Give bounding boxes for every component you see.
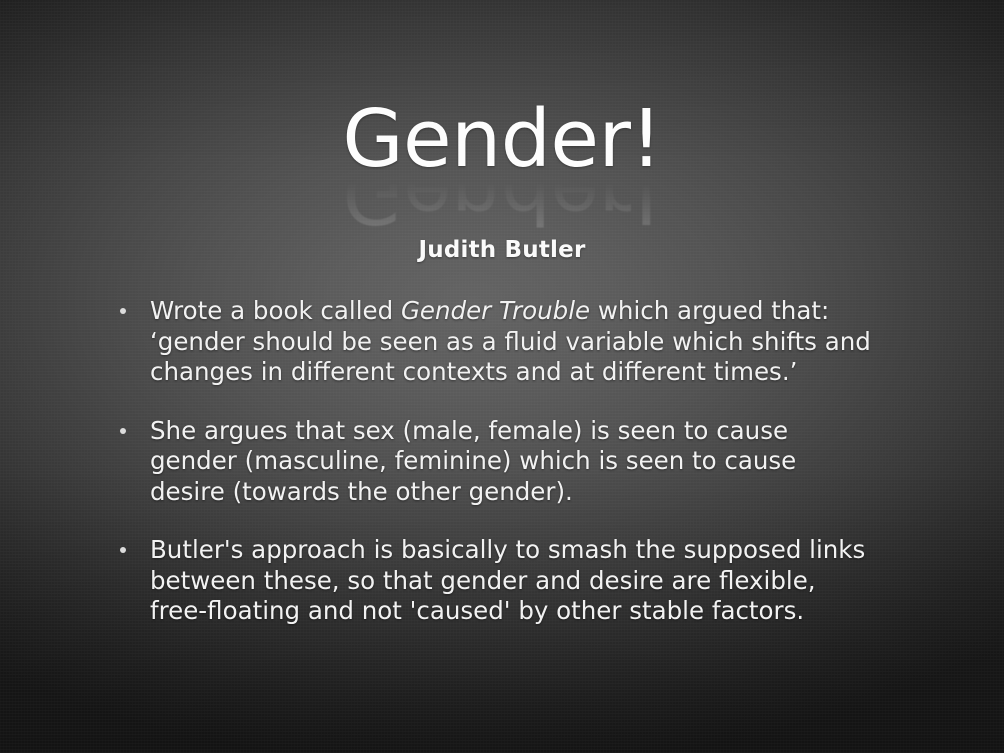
list-item: She argues that sex (male, female) is se… [112, 416, 922, 508]
slide-content: Gender! Gender! Judith Butler Wrote a bo… [0, 0, 1004, 753]
list-item: Wrote a book called Gender Trouble which… [112, 296, 922, 388]
round-dot-icon [120, 428, 126, 434]
page-title: Gender! [0, 100, 1004, 179]
page-title-reflection: Gender! [0, 181, 1004, 233]
presentation-slide: Gender! Gender! Judith Butler Wrote a bo… [0, 0, 1004, 753]
slide-subtitle: Judith Butler [0, 237, 1004, 263]
slide-title-block: Gender! Gender! [0, 100, 1004, 233]
list-item-text: Wrote a book called Gender Trouble which… [150, 296, 922, 388]
list-item-text: She argues that sex (male, female) is se… [150, 416, 922, 508]
list-item: Butler's approach is basically to smash … [112, 535, 922, 627]
slide-bullet-list: Wrote a book called Gender Trouble which… [112, 296, 922, 627]
list-item-text: Butler's approach is basically to smash … [150, 535, 922, 627]
round-dot-icon [120, 308, 126, 314]
round-dot-icon [120, 547, 126, 553]
emphasized-title: Gender Trouble [401, 296, 590, 325]
